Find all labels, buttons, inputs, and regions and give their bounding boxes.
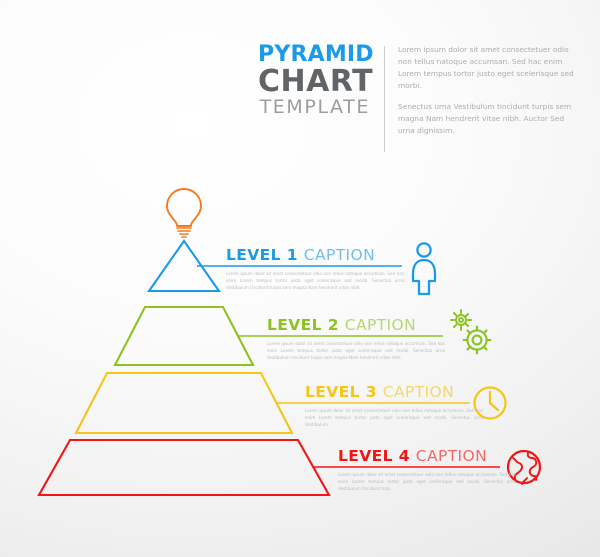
caption-level-2[interactable]: LEVEL 2 CAPTION Lorem ipsum dolor sit am… [267,318,447,361]
caption-level-label-2: LEVEL 2 [267,316,339,334]
lightbulb-icon[interactable] [167,189,201,237]
caption-level-3[interactable]: LEVEL 3 CAPTION Lorem ipsum dolor sit am… [305,385,485,428]
caption-level-1[interactable]: LEVEL 1 CAPTION Lorem ipsum dolor sit am… [226,248,406,291]
caption-title-level-4: LEVEL 4 CAPTION [338,449,518,465]
caption-word-label-3: CAPTION [383,383,454,401]
caption-title-level-3: LEVEL 3 CAPTION [305,385,485,401]
caption-title-level-1: LEVEL 1 CAPTION [226,248,406,264]
infographic-canvas: PYRAMID CHART TEMPLATE Lorem ipsum dolor… [0,0,600,557]
caption-title-level-2: LEVEL 2 CAPTION [267,318,447,334]
caption-level-label-3: LEVEL 3 [305,383,377,401]
pyramid-segment-level-2[interactable] [115,307,253,365]
gears-icon[interactable] [451,310,491,354]
caption-level-label-4: LEVEL 4 [338,447,410,465]
pyramid-segment-level-3[interactable] [76,373,292,433]
pyramid-segment-level-4[interactable] [39,440,329,495]
caption-level-4[interactable]: LEVEL 4 CAPTION Lorem ipsum dolor sit am… [338,449,518,492]
caption-body-level-2: Lorem ipsum dolor sit amet consectetuer … [267,340,445,361]
caption-word-label-4: CAPTION [416,447,487,465]
person-icon[interactable] [413,243,435,294]
caption-body-level-3: Lorem ipsum dolor sit amet consectetuer … [305,407,483,428]
caption-body-level-4: Lorem ipsum dolor sit amet consectetuer … [338,471,516,492]
caption-body-level-1: Lorem ipsum dolor sit amet consectetuer … [226,270,404,291]
caption-word-label-1: CAPTION [304,246,375,264]
caption-word-label-2: CAPTION [345,316,416,334]
caption-level-label-1: LEVEL 1 [226,246,298,264]
